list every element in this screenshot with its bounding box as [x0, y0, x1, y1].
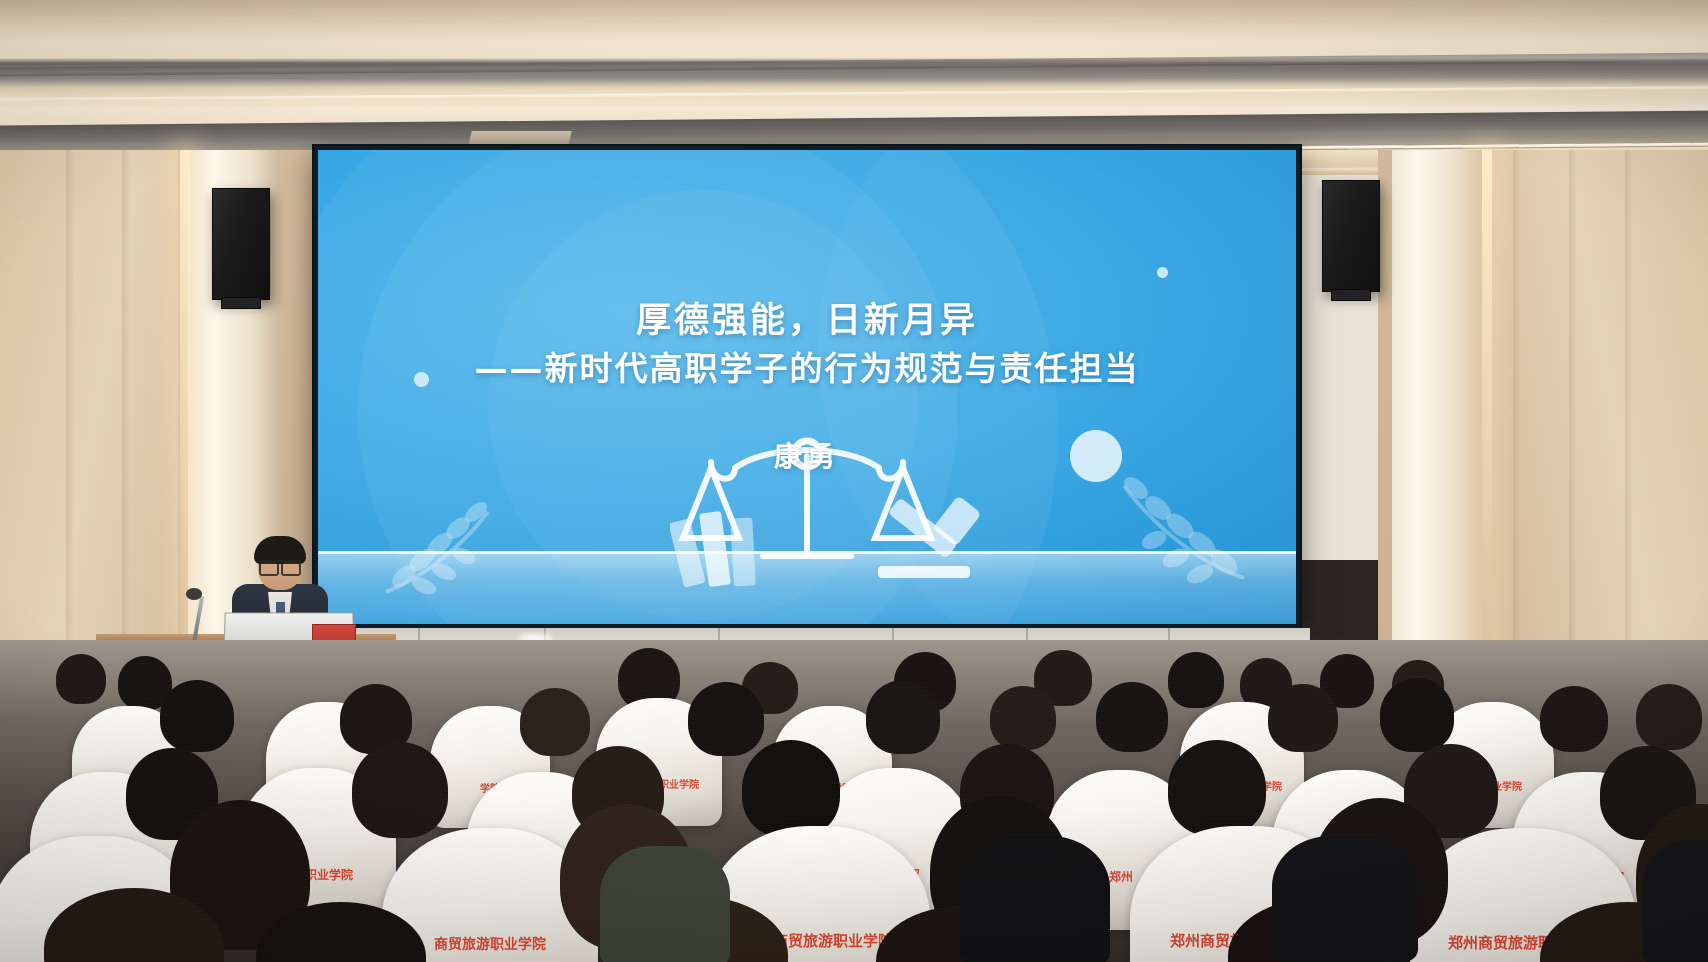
audience-head [688, 682, 764, 756]
slide-title-line2: ——新时代高职学子的行为规范与责任担当 [318, 348, 1296, 391]
audience-head [1268, 684, 1338, 752]
audience-head [866, 680, 940, 754]
audience-head [1096, 682, 1168, 752]
photo-canvas: 厚德强能，日新月异 ——新时代高职学子的行为规范与责任担当 康勇 [0, 0, 1708, 962]
pa-speaker-left [212, 188, 270, 300]
presentation-slide: 厚德强能，日新月异 ——新时代高职学子的行为规范与责任担当 康勇 [318, 150, 1296, 624]
seat-cover-label: 郑州 [1109, 868, 1133, 885]
audience-head [990, 686, 1056, 750]
audience-head [352, 742, 448, 838]
audience-head [1380, 678, 1454, 752]
audience-head [56, 654, 106, 704]
slide-speaker-name: 康勇 [318, 435, 1296, 475]
speaker-mount-bracket [221, 297, 261, 309]
audience-head [1168, 652, 1224, 708]
audience-torso [600, 846, 730, 962]
audience-head [1636, 684, 1702, 750]
audience-area: 旅游职业学院 职业学院 学院 商贸旅游职业学院 职业学院 商贸旅游职业学院 旅游… [0, 640, 1708, 962]
seat-cover-label: 商贸旅游职业学院 [434, 934, 546, 954]
microphone-head [186, 588, 202, 600]
audience-torso [960, 836, 1110, 962]
eyeglasses-icon [259, 560, 301, 570]
audience-head [1540, 686, 1608, 752]
ceiling-recess-upper [0, 52, 1708, 77]
audience-head [1168, 740, 1266, 836]
pa-speaker-right [1322, 180, 1380, 292]
audience-head [520, 688, 590, 756]
slide-title-line1: 厚德强能，日新月异 [318, 300, 1296, 344]
speaker-mount-bracket [1331, 289, 1371, 301]
audience-torso [1642, 840, 1708, 962]
slide-text-block: 厚德强能，日新月异 ——新时代高职学子的行为规范与责任担当 康勇 [318, 300, 1296, 475]
ceiling-light-strip-upper [0, 86, 1708, 102]
slide-dot-decoration [1157, 267, 1168, 278]
led-screen-frame: 厚德强能，日新月异 ——新时代高职学子的行为规范与责任担当 康勇 [314, 146, 1300, 628]
ceiling-air-vent [468, 131, 571, 147]
audience-head [160, 680, 234, 752]
slide-ground-band [318, 552, 1296, 624]
audience-head [742, 740, 840, 838]
audience-torso [1272, 836, 1418, 962]
